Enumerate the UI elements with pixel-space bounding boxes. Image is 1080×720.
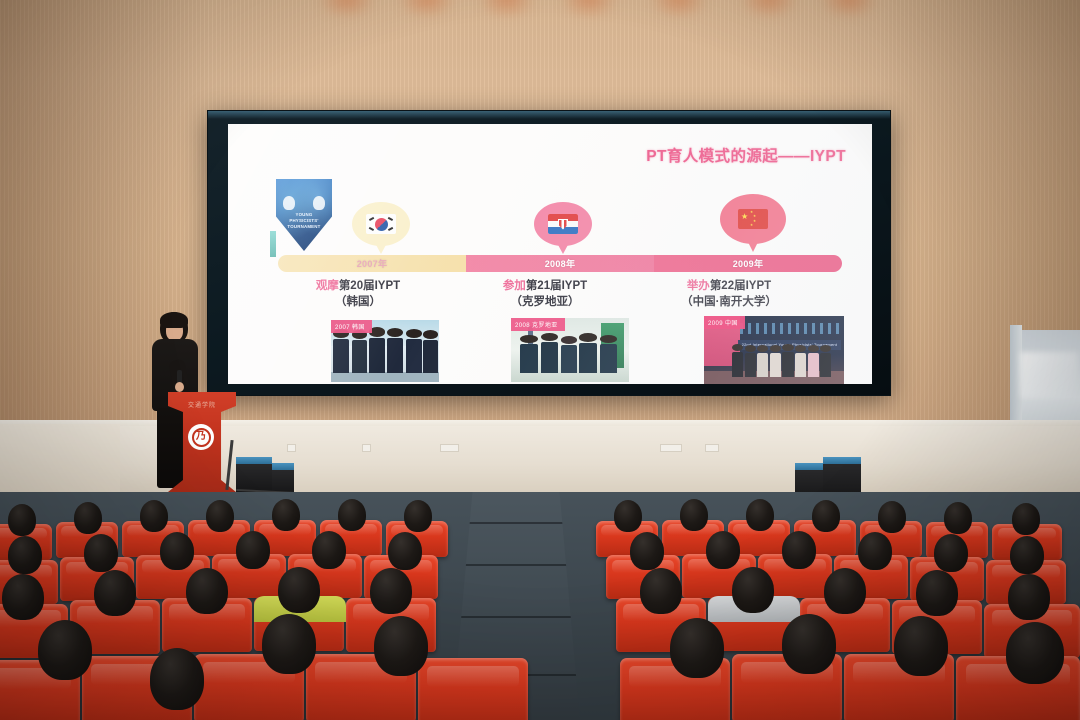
timeline-segment-2009: 2009年 bbox=[654, 255, 842, 272]
timeline-year-2007: 2007年 bbox=[357, 257, 388, 270]
audience-head bbox=[374, 616, 428, 676]
podium-text: 交通学院 bbox=[168, 400, 236, 409]
audience-head bbox=[262, 614, 316, 674]
audience-head bbox=[312, 531, 346, 569]
audience-head bbox=[732, 567, 774, 613]
audience-head bbox=[782, 614, 836, 674]
audience-head bbox=[944, 502, 972, 534]
timeline-year-2009: 2009年 bbox=[733, 257, 764, 270]
audience-head bbox=[236, 531, 270, 569]
audience-head bbox=[824, 568, 866, 614]
audience-head bbox=[1008, 574, 1050, 620]
caption-place-2007: （韩国） bbox=[263, 294, 453, 310]
audience-head bbox=[338, 499, 366, 531]
audience-head bbox=[706, 531, 740, 569]
audience-head bbox=[150, 648, 204, 710]
audience-head bbox=[84, 534, 118, 572]
presentation-screen[interactable]: PT育人模式的源起——IYPT YOUNG PHYSICISTS' TOURNA… bbox=[207, 110, 891, 396]
flag-south-korea-icon bbox=[366, 214, 396, 234]
audience-head bbox=[38, 620, 92, 680]
audience-head bbox=[878, 501, 906, 533]
slide-photo-2007: 2007 韩国 bbox=[331, 320, 439, 382]
timeline-caption-2007: 观摩第20届IYPT （韩国） bbox=[263, 278, 453, 310]
caption-event-2008: 第21届IYPT bbox=[526, 280, 587, 292]
audience-head bbox=[858, 532, 892, 570]
podium-logo-glyph: 乃 bbox=[192, 428, 211, 447]
audience-head bbox=[1006, 622, 1064, 684]
caption-place-2009: （中国·南开大学） bbox=[634, 294, 824, 310]
audience-head bbox=[614, 500, 642, 532]
wall-outlet bbox=[287, 444, 296, 452]
wall-outlet bbox=[440, 444, 459, 452]
audience-head bbox=[370, 568, 412, 614]
photo-tag-2008: 2008 克罗地亚 bbox=[511, 318, 565, 331]
audience-head bbox=[1012, 503, 1040, 535]
audience-head bbox=[934, 534, 968, 572]
caption-event-2009: 第22届IYPT bbox=[710, 280, 771, 292]
presenter-hand bbox=[175, 382, 184, 392]
timeline-marker-2008 bbox=[534, 202, 592, 250]
podium-logo: 乃 bbox=[188, 424, 214, 450]
timeline-caption-2009: 举办第22届IYPT （中国·南开大学） bbox=[634, 278, 824, 310]
audience-head bbox=[8, 504, 36, 536]
audience-head bbox=[916, 570, 958, 616]
wall-outlet bbox=[705, 444, 719, 452]
slide-canvas: PT育人模式的源起——IYPT YOUNG PHYSICISTS' TOURNA… bbox=[228, 124, 872, 384]
audience-head bbox=[812, 500, 840, 532]
photo-tag-2007: 2007 韩国 bbox=[331, 320, 372, 333]
audience-head bbox=[782, 531, 816, 569]
caption-place-2008: （克罗地亚） bbox=[450, 294, 640, 310]
audience-head bbox=[630, 532, 664, 570]
audience-head bbox=[8, 536, 42, 574]
slide-photo-2008: 2008 克罗地亚 bbox=[511, 318, 629, 382]
timeline-marker-2007 bbox=[352, 202, 410, 250]
slide-photo-2009: 22nd International Young Physicists' Tou… bbox=[704, 316, 844, 384]
audience-head bbox=[272, 499, 300, 531]
presenter-fringe bbox=[160, 312, 188, 328]
audience-head bbox=[206, 500, 234, 532]
audience-head bbox=[670, 618, 724, 678]
timeline-segment-2007: 2007年 bbox=[278, 255, 466, 272]
auditorium-scene: PT育人模式的源起——IYPT YOUNG PHYSICISTS' TOURNA… bbox=[0, 0, 1080, 720]
audience-head bbox=[2, 574, 44, 620]
timeline-segment-2008: 2008年 bbox=[466, 255, 654, 272]
audience-head bbox=[640, 568, 682, 614]
audience-head bbox=[404, 500, 432, 532]
audience-head bbox=[186, 568, 228, 614]
audience-head bbox=[160, 532, 194, 570]
auditorium-seat bbox=[418, 658, 528, 720]
audience-head bbox=[74, 502, 102, 534]
audience-head bbox=[894, 616, 948, 676]
timeline-year-2008: 2008年 bbox=[545, 257, 576, 270]
flag-china-icon: ★ ★ ★ ★ ★ bbox=[738, 209, 768, 229]
timeline-marker-2009: ★ ★ ★ ★ ★ bbox=[720, 194, 778, 242]
audience-head bbox=[94, 570, 136, 616]
timeline-bar: 2007年 2008年 2009年 bbox=[278, 255, 842, 272]
audience-head bbox=[1010, 536, 1044, 574]
wall-outlet bbox=[660, 444, 682, 452]
caption-event-2007: 第20届IYPT bbox=[339, 280, 400, 292]
audience-head bbox=[746, 499, 774, 531]
audience-head bbox=[140, 500, 168, 532]
caption-verb-2007: 观摩 bbox=[316, 280, 339, 292]
caption-verb-2009: 举办 bbox=[687, 280, 710, 292]
wall-outlet bbox=[362, 444, 371, 452]
flag-croatia-icon bbox=[548, 214, 578, 234]
window-glare bbox=[1020, 352, 1078, 398]
stage-left-step bbox=[0, 424, 120, 496]
timeline-caption-2008: 参加第21届IYPT （克罗地亚） bbox=[450, 278, 640, 310]
audience-head bbox=[680, 499, 708, 531]
audience-head bbox=[388, 532, 422, 570]
caption-verb-2008: 参加 bbox=[503, 280, 526, 292]
audience-head bbox=[278, 567, 320, 613]
photo-tag-2009: 2009 中国 bbox=[704, 316, 745, 329]
